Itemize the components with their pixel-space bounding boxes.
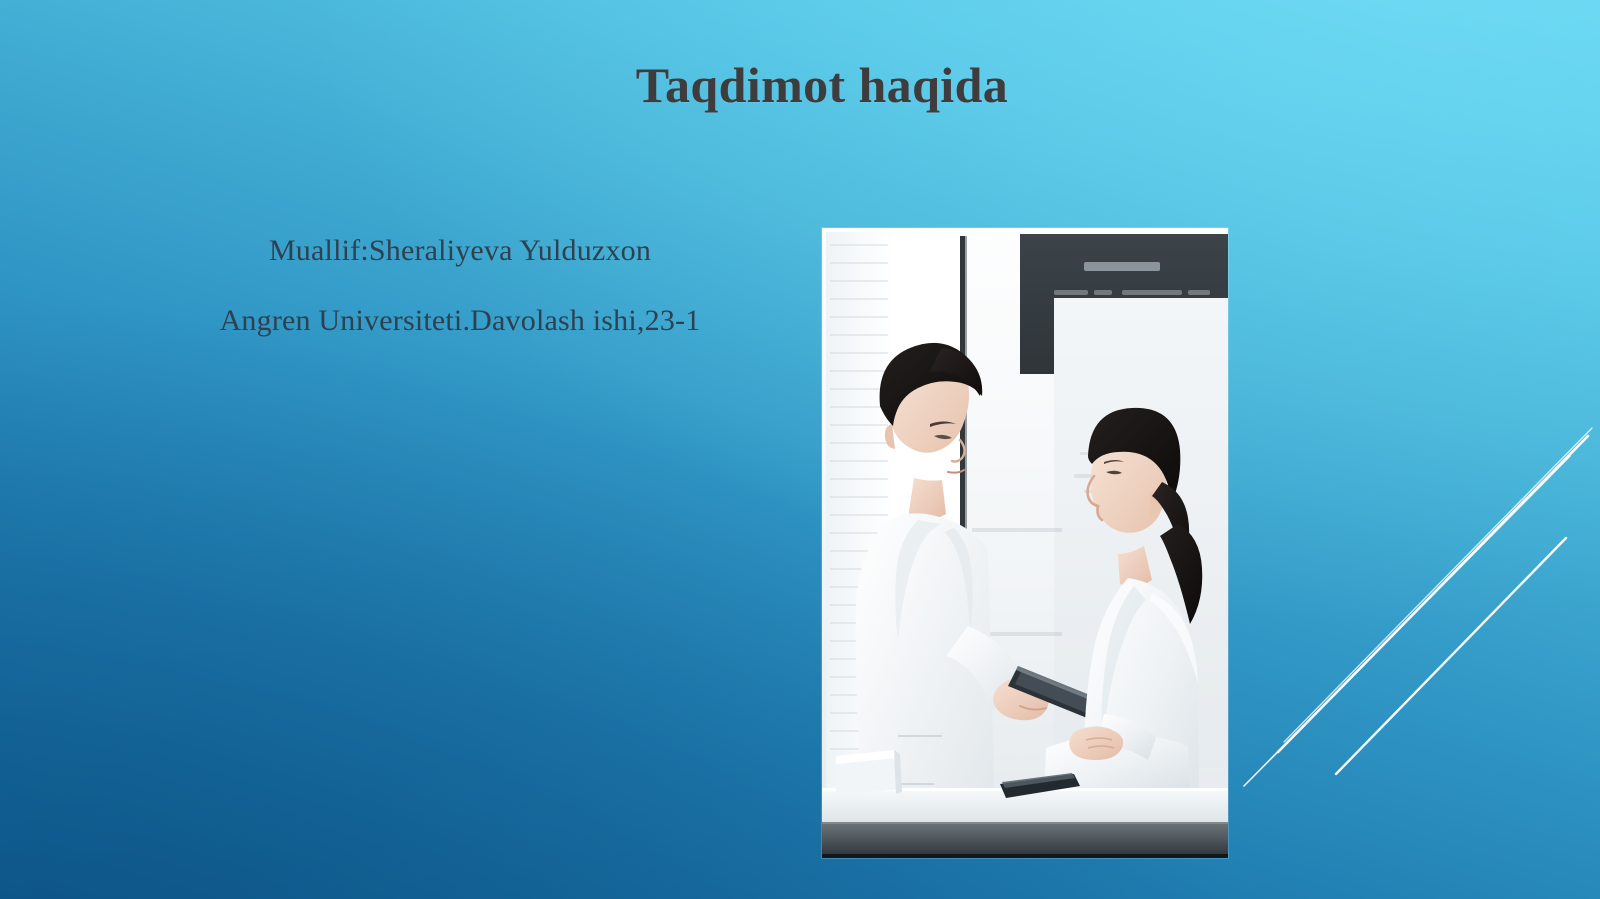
presentation-slide: Taqdimot haqida Muallif:Sheraliyeva Yuld… (0, 0, 1600, 899)
background-vignette (0, 0, 1600, 899)
streak-line-2 (1278, 436, 1588, 752)
author-line: Muallif:Sheraliyeva Yulduzxon (100, 236, 820, 266)
streak-line-1 (1244, 456, 1570, 786)
consultation-photo-illustration (822, 228, 1228, 858)
affiliation-line: Angren Universiteti.Davolash ishi,23-1 (100, 306, 820, 336)
slide-text-block: Muallif:Sheraliyeva Yulduzxon Angren Uni… (100, 236, 820, 336)
consultation-photo (822, 228, 1228, 858)
diagonal-streak-decoration (1240, 370, 1600, 790)
page-title: Taqdimot haqida (0, 56, 1600, 114)
streak-line-4 (1368, 498, 1526, 660)
streak-line-5 (1336, 538, 1566, 774)
streak-line-3 (1284, 428, 1592, 742)
diagonal-streak-lines (1240, 370, 1600, 790)
page-title-text: Taqdimot haqida (636, 57, 1008, 113)
